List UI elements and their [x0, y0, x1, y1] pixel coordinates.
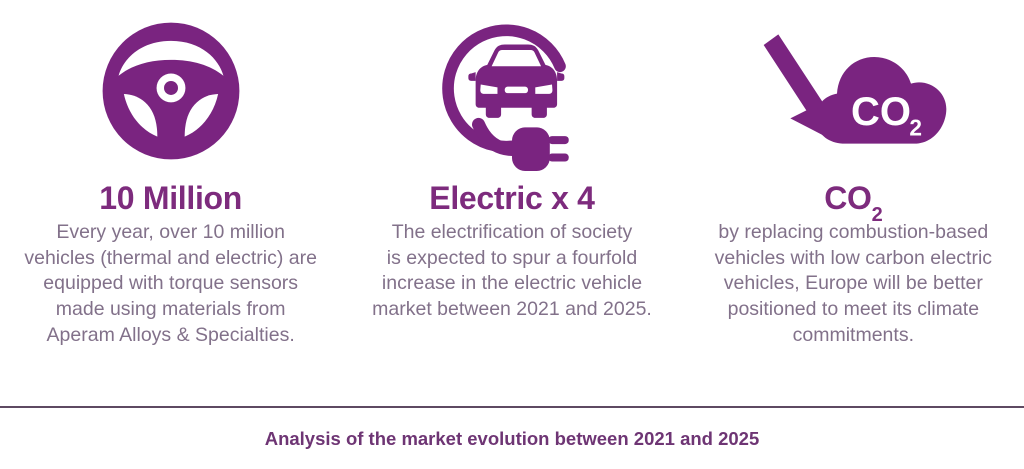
stat-heading-main: CO: [824, 180, 871, 216]
body-line: positioned to meet its climate: [715, 297, 992, 323]
electric-car-plug-icon: [432, 11, 592, 171]
stat-heading: Electric x 4: [429, 182, 594, 214]
stat-body: The electrification of society is expect…: [372, 220, 652, 323]
body-line: by replacing combustion-based: [715, 220, 992, 246]
body-line: Every year, over 10 million: [24, 220, 317, 246]
body-line: commitments.: [715, 323, 992, 349]
body-line: vehicles, Europe will be better: [715, 271, 992, 297]
body-line: market between 2021 and 2025.: [372, 297, 652, 323]
footer-caption: Analysis of the market evolution between…: [265, 428, 760, 450]
body-line: The electrification of society: [372, 220, 652, 246]
stat-columns: 10 Million Every year, over 10 million v…: [0, 0, 1024, 406]
stat-column-steering-wheel: 10 Million Every year, over 10 million v…: [0, 0, 341, 406]
stat-column-electric-vehicle: Electric x 4 The electrification of soci…: [341, 0, 682, 406]
infographic-root: 10 Million Every year, over 10 million v…: [0, 0, 1024, 469]
stat-heading: 10 Million: [99, 182, 242, 214]
footer: Analysis of the market evolution between…: [0, 408, 1024, 469]
co2-cloud-arrow-down-icon: CO 2: [743, 21, 963, 161]
body-line: Aperam Alloys & Specialties.: [24, 323, 317, 349]
body-line: made using materials from: [24, 297, 317, 323]
co2-icon-label: CO: [851, 90, 911, 134]
body-line: increase in the electric vehicle: [372, 271, 652, 297]
stat-heading-subscript: 2: [872, 204, 883, 226]
body-line: vehicles (thermal and electric) are: [24, 246, 317, 272]
icon-area: CO 2: [691, 0, 1016, 182]
stat-body: by replacing combustion-based vehicles w…: [715, 220, 992, 349]
stat-body: Every year, over 10 million vehicles (th…: [24, 220, 317, 349]
body-line: is expected to spur a fourfold: [372, 246, 652, 272]
icon-area: [349, 0, 674, 182]
co2-icon-label-subscript: 2: [910, 115, 923, 141]
stat-column-co2: CO 2 CO2 by replacing combustion-based v…: [683, 0, 1024, 406]
body-line: vehicles with low carbon electric: [715, 246, 992, 272]
steering-wheel-icon: [95, 15, 247, 167]
body-line: equipped with torque sensors: [24, 271, 317, 297]
stat-heading: CO2: [824, 182, 882, 214]
icon-area: [8, 0, 333, 182]
